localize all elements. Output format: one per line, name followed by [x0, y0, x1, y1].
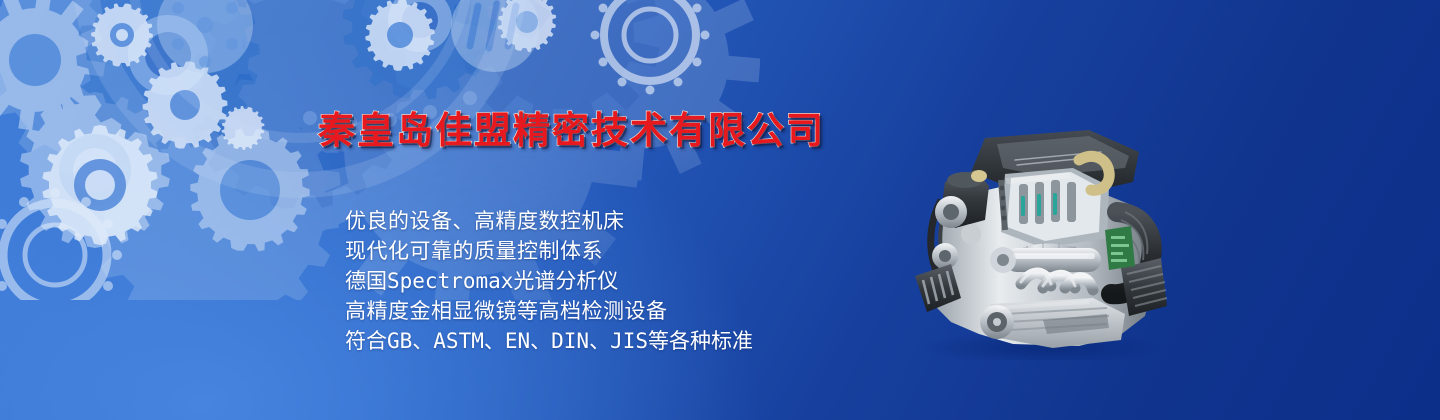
- feature-list: 优良的设备、高精度数控机床 现代化可靠的质量控制体系 德国Spectromax光…: [345, 206, 905, 356]
- feature-line: 优良的设备、高精度数控机床: [345, 206, 905, 236]
- company-banner: 秦皇岛佳盟精密技术有限公司 优良的设备、高精度数控机床 现代化可靠的质量控制体系…: [0, 0, 1440, 420]
- engine-cutaway-photo: [893, 108, 1189, 360]
- feature-line: 符合GB、ASTM、EN、DIN、JIS等各种标准: [345, 326, 905, 356]
- feature-line: 德国Spectromax光谱分析仪: [345, 266, 905, 296]
- page-title: 秦皇岛佳盟精密技术有限公司: [318, 100, 825, 154]
- feature-line: 高精度金相显微镜等高档检测设备: [345, 296, 905, 326]
- feature-line: 现代化可靠的质量控制体系: [345, 236, 905, 266]
